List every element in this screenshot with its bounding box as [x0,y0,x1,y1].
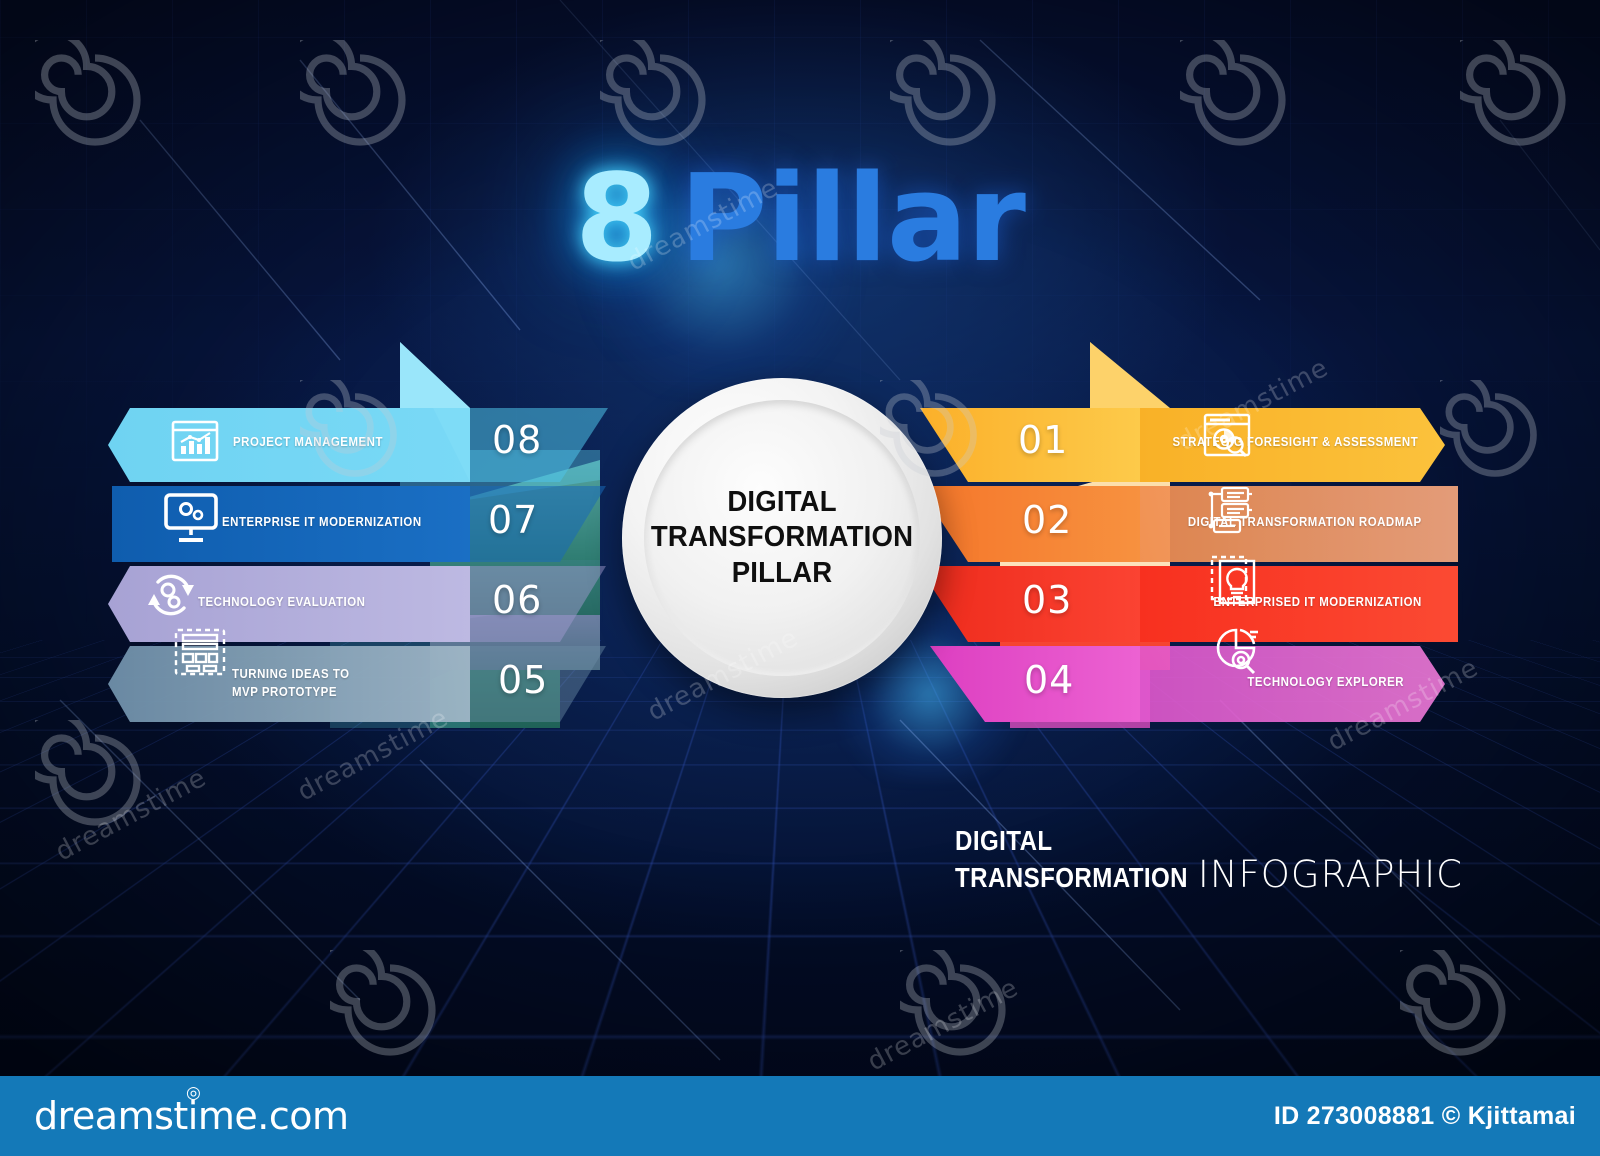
caption-line-1: DIGITAL [955,826,1402,856]
bottom-caption: DIGITAL TRANSFORMATION INFOGRAPHIC [955,826,1475,893]
caption-line-2-row: TRANSFORMATION INFOGRAPHIC [955,856,1475,893]
dreamstime-logo-icon: ◎ [186,1083,200,1103]
center-disc-text: DIGITAL TRANSFORMATION PILLAR [651,485,913,592]
dreamstime-footer: dreamstime.com ◎ ID 273008881 © Kjittama… [0,1076,1600,1156]
page-title: 8Pillar [0,160,1600,280]
dreamstime-brand: dreamstime.com ◎ [34,1094,348,1138]
infographic-canvas: 8Pillar [0,0,1600,1156]
caption-line-2: TRANSFORMATION [955,863,1188,893]
center-line-3: PILLAR [651,556,913,592]
center-disc: DIGITAL TRANSFORMATION PILLAR [622,378,942,698]
title-number: 8 [575,150,658,289]
center-line-1: DIGITAL [651,485,913,521]
caption-infographic: INFOGRAPHIC [1198,856,1463,893]
center-line-2: TRANSFORMATION [651,520,913,556]
image-id-text: ID 273008881 © Kjittamai [1274,1102,1576,1131]
title-word: Pillar [679,150,1025,289]
center-disc-inner: DIGITAL TRANSFORMATION PILLAR [644,400,920,676]
